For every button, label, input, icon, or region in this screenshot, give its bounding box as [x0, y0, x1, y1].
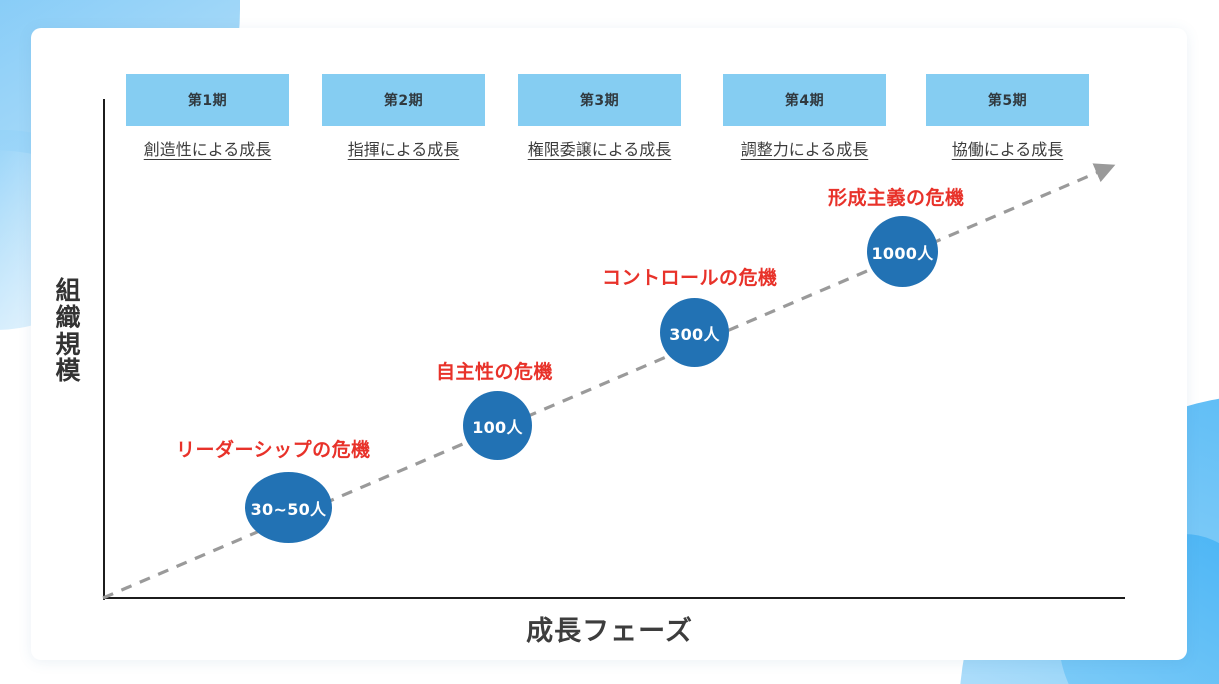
y-axis-label-char-1: 織 — [53, 305, 83, 332]
phase-subtitle-4: 調整力による成長 — [723, 136, 886, 160]
phase-column-3: 第3期 権限委譲による成長 — [518, 74, 681, 160]
phase-column-2: 第2期 指揮による成長 — [322, 74, 485, 160]
crisis-label-4: 形成主義の危機 — [828, 183, 965, 210]
crisis-label-2: 自主性の危機 — [436, 357, 553, 384]
phase-subtitle-5: 協働による成長 — [926, 136, 1089, 160]
phase-subtitle-2: 指揮による成長 — [322, 136, 485, 160]
phase-column-1: 第1期 創造性による成長 — [126, 74, 289, 160]
y-axis-label-char-3: 模 — [53, 358, 83, 385]
phase-badge-5[interactable]: 第5期 — [926, 74, 1089, 126]
y-axis-line — [103, 99, 105, 600]
data-bubble-3[interactable]: 300人 — [660, 298, 729, 367]
crisis-label-3: コントロールの危機 — [602, 263, 778, 290]
data-bubble-4[interactable]: 1000人 — [867, 216, 938, 287]
x-axis-line — [103, 597, 1125, 599]
phase-badge-3[interactable]: 第3期 — [518, 74, 681, 126]
phase-subtitle-3: 権限委譲による成長 — [518, 136, 681, 160]
data-bubble-1[interactable]: 30~50人 — [245, 472, 332, 543]
y-axis-label-char-0: 組 — [53, 278, 83, 305]
growth-phase-chart: 組 織 規 模 成長フェーズ 第1期 創造性による成長 第2期 指揮による成長 … — [0, 0, 1219, 684]
crisis-label-1: リーダーシップの危機 — [176, 435, 371, 462]
y-axis-label: 組 織 規 模 — [53, 278, 83, 385]
data-bubble-2[interactable]: 100人 — [463, 391, 532, 460]
phase-badge-4[interactable]: 第4期 — [723, 74, 886, 126]
y-axis-label-char-2: 規 — [53, 332, 83, 359]
x-axis-label: 成長フェーズ — [0, 609, 1219, 648]
slide-canvas: 組 織 規 模 成長フェーズ 第1期 創造性による成長 第2期 指揮による成長 … — [0, 0, 1219, 684]
phase-column-4: 第4期 調整力による成長 — [723, 74, 886, 160]
phase-badge-2[interactable]: 第2期 — [322, 74, 485, 126]
phase-subtitle-1: 創造性による成長 — [126, 136, 289, 160]
phase-badge-1[interactable]: 第1期 — [126, 74, 289, 126]
phase-column-5: 第5期 協働による成長 — [926, 74, 1089, 160]
